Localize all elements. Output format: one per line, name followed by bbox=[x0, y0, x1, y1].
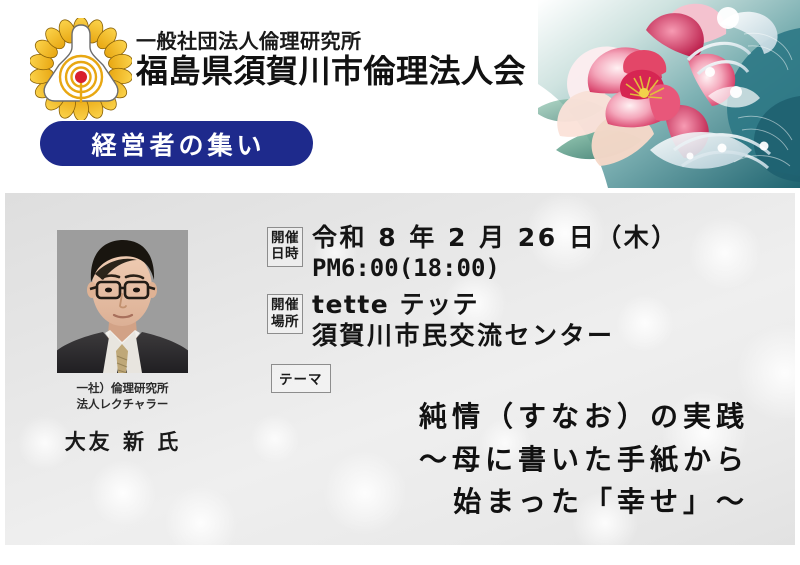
theme-line-2: 〜母に書いた手紙から bbox=[273, 439, 749, 482]
theme-label: テーマ bbox=[271, 364, 331, 393]
event-venue-values: tette テッテ 須賀川市民交流センター bbox=[312, 290, 615, 352]
flyer-body: 一社）倫理研究所 法人レクチャラー 大友 新 氏 開催 日時 令和 8 年 2 … bbox=[5, 193, 795, 545]
event-datetime-label: 開催 日時 bbox=[267, 227, 303, 267]
speaker-name: 大友 新 氏 bbox=[47, 426, 199, 456]
speaker-affiliation-line1: 一社）倫理研究所 bbox=[57, 381, 188, 397]
event-time: PM6:00(18:00) bbox=[312, 254, 679, 284]
theme-text: 純情（すなお）の実践 〜母に書いた手紙から 始まった「幸せ」〜 bbox=[273, 396, 773, 524]
organization-subtitle: 一般社団法人倫理研究所 bbox=[136, 30, 526, 52]
event-series-badge: 経営者の集い bbox=[40, 121, 313, 166]
event-venue-label-line2: 場所 bbox=[271, 314, 299, 330]
event-venue-name: tette テッテ bbox=[312, 290, 615, 321]
organization-title-block: 一般社団法人倫理研究所 福島県須賀川市倫理法人会 bbox=[136, 30, 526, 90]
theme-line-3: 始まった「幸せ」〜 bbox=[273, 481, 749, 524]
event-venue-label-line1: 開催 bbox=[271, 297, 299, 313]
event-datetime-values: 令和 8 年 2 月 26 日（木） PM6:00(18:00) bbox=[312, 223, 679, 283]
flyer-header: 一般社団法人倫理研究所 福島県須賀川市倫理法人会 経営者の集い bbox=[0, 0, 800, 188]
event-details: 開催 日時 令和 8 年 2 月 26 日（木） PM6:00(18:00) 開… bbox=[267, 223, 787, 352]
speaker-affiliation: 一社）倫理研究所 法人レクチャラー bbox=[57, 381, 188, 413]
event-flyer: 一般社団法人倫理研究所 福島県須賀川市倫理法人会 経営者の集い bbox=[0, 0, 800, 565]
event-venue-label: 開催 場所 bbox=[267, 294, 303, 334]
event-datetime-label-line2: 日時 bbox=[271, 246, 299, 262]
event-date: 令和 8 年 2 月 26 日（木） bbox=[312, 223, 679, 254]
theme-line-1: 純情（すなお）の実践 bbox=[273, 396, 749, 439]
speaker-portrait bbox=[57, 230, 188, 373]
rinri-kenkyusho-emblem-icon bbox=[30, 18, 132, 120]
speaker-affiliation-line2: 法人レクチャラー bbox=[57, 397, 188, 413]
peony-wave-artwork-icon bbox=[538, 0, 800, 188]
event-venue-row: 開催 場所 tette テッテ 須賀川市民交流センター bbox=[267, 290, 787, 352]
event-datetime-label-line1: 開催 bbox=[271, 230, 299, 246]
organization-name: 福島県須賀川市倫理法人会 bbox=[136, 53, 526, 89]
event-datetime-row: 開催 日時 令和 8 年 2 月 26 日（木） PM6:00(18:00) bbox=[267, 223, 787, 283]
event-venue-facility: 須賀川市民交流センター bbox=[312, 321, 615, 352]
